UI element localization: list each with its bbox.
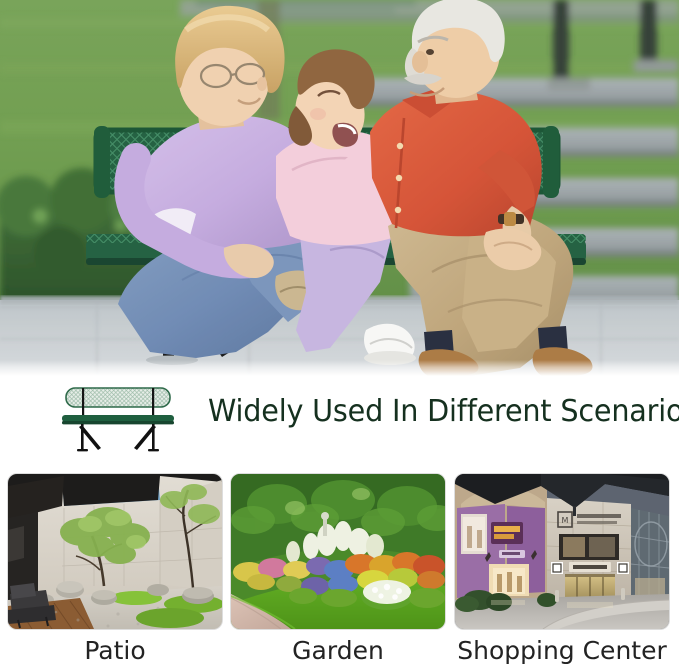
garden-thumbnail[interactable] — [231, 474, 445, 629]
park-bench-icon — [57, 382, 179, 456]
hero-illustration — [0, 0, 679, 376]
scenario-card-patio[interactable]: Patio — [8, 474, 222, 629]
scenario-gallery: Patio — [0, 472, 679, 670]
hero-image — [0, 0, 679, 376]
patio-thumbnail[interactable] — [8, 474, 222, 629]
patio-illustration — [8, 474, 222, 629]
product-scenario-banner: Widely Used In Different Scenarios — [0, 0, 679, 670]
shopping-center-illustration: M — [455, 474, 669, 629]
scenario-card-garden[interactable]: Garden — [231, 474, 445, 629]
bench-icon-graphic — [57, 382, 179, 456]
scenario-label-garden: Garden — [231, 631, 445, 670]
headline-band: Widely Used In Different Scenarios — [0, 376, 679, 472]
page-title: Widely Used In Different Scenarios — [208, 390, 649, 434]
scenario-card-shopping-center[interactable]: M — [455, 474, 669, 629]
scenario-label-patio: Patio — [8, 631, 222, 670]
garden-illustration — [231, 474, 445, 629]
svg-text:M: M — [562, 516, 569, 525]
shopping-center-thumbnail[interactable]: M — [455, 474, 669, 629]
scenario-label-shopping-center: Shopping Center — [455, 631, 669, 670]
